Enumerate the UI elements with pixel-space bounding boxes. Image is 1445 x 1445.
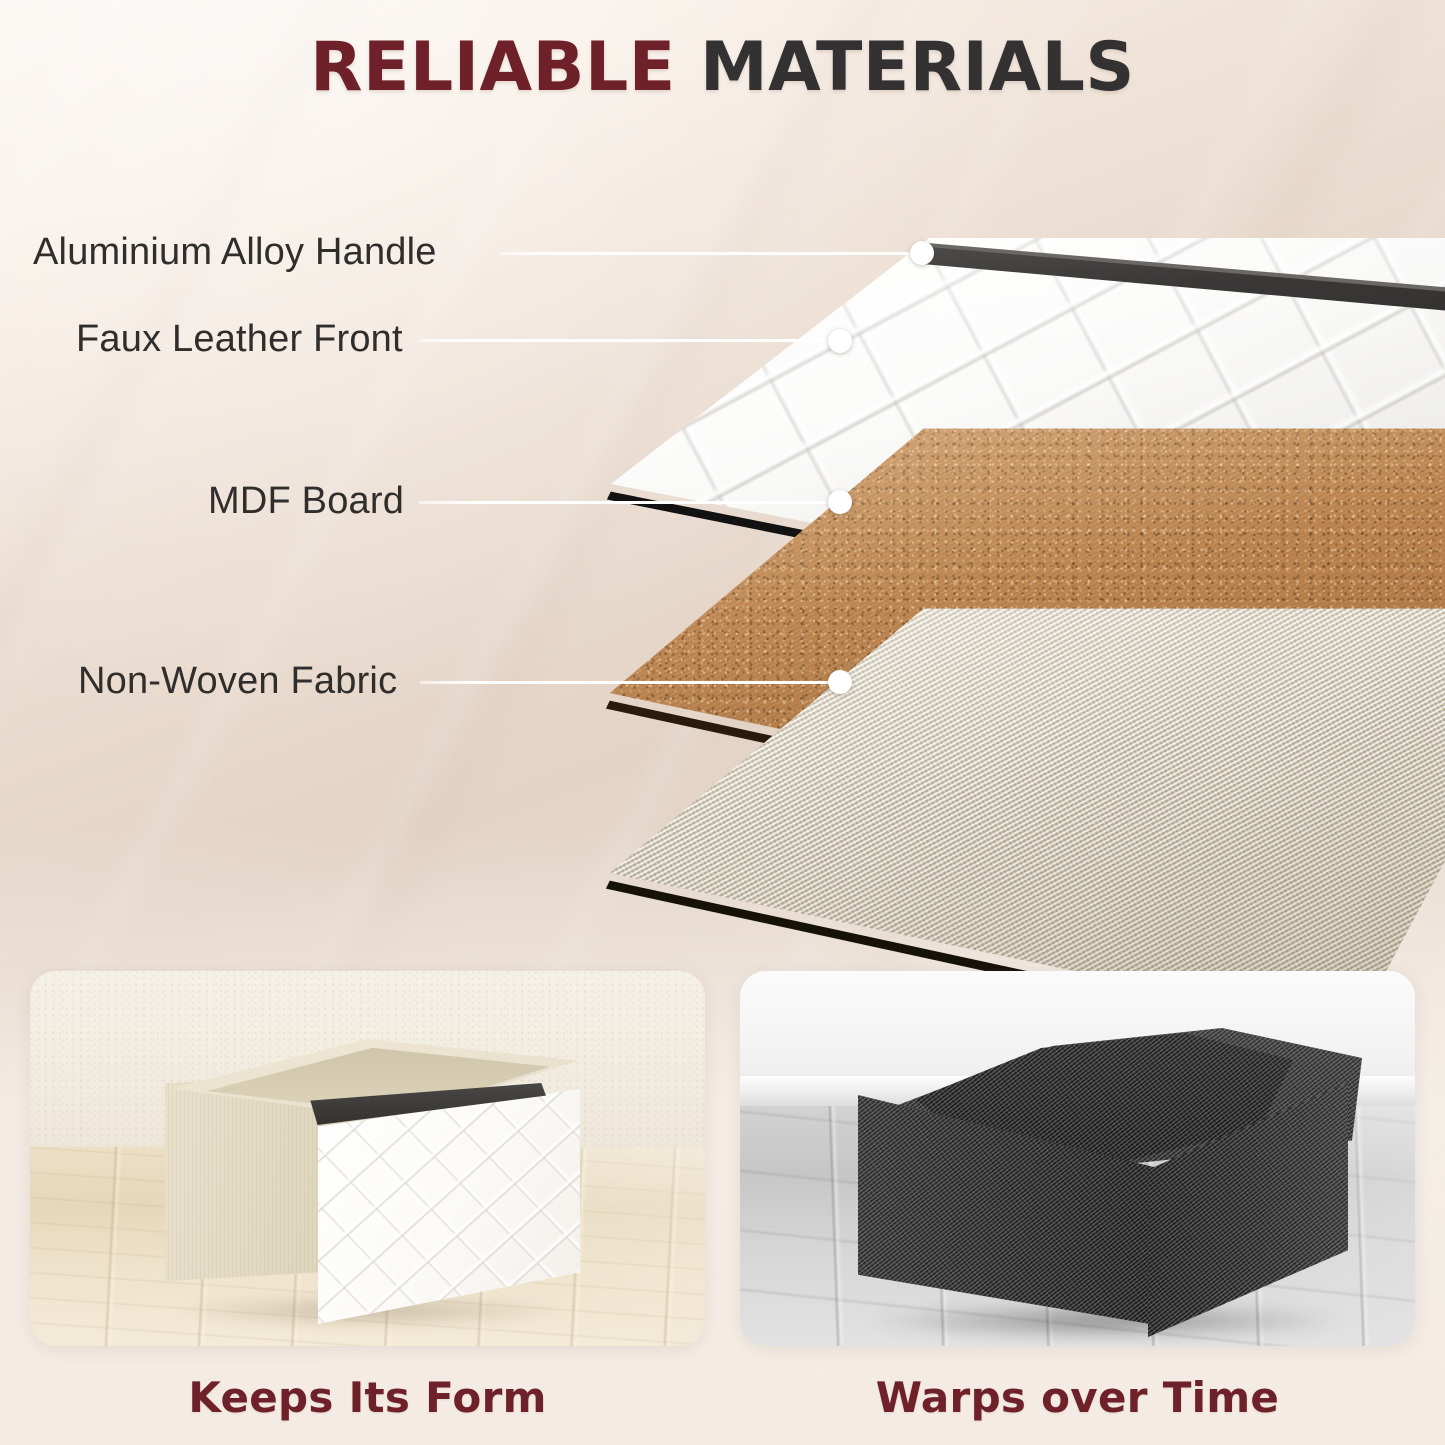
callout-leader-faux-leather-front — [420, 339, 838, 342]
callout-dot-faux-leather-front — [828, 329, 852, 353]
title-word-materials: MATERIALS — [700, 28, 1135, 107]
comparison-panel-keeps-form — [30, 971, 705, 1346]
title-word-reliable: RELIABLE — [310, 28, 676, 107]
callout-dot-mdf-board — [828, 490, 852, 514]
page-title: RELIABLE MATERIALS — [0, 28, 1445, 107]
exploded-layers-diagram: Aluminium Alloy Handle Faux Leather Fron… — [0, 150, 1445, 910]
callout-dot-aluminium-alloy-handle — [910, 241, 934, 265]
comparison-panel-warps-over-time — [740, 971, 1415, 1346]
callout-leader-aluminium-alloy-handle — [500, 252, 922, 255]
caption-keeps-its-form: Keeps Its Form — [30, 1373, 705, 1422]
infographic-root: RELIABLE MATERIALS Aluminium Alloy Handl… — [0, 0, 1445, 1445]
callout-label-non-woven-fabric: Non-Woven Fabric — [78, 660, 397, 703]
callout-leader-non-woven-fabric — [420, 681, 838, 684]
callout-dot-non-woven-fabric — [828, 670, 852, 694]
caption-warps-over-time: Warps over Time — [740, 1373, 1415, 1422]
callout-label-mdf-board: MDF Board — [208, 480, 404, 523]
comparison-section: Keeps Its Form Warps over Time — [0, 965, 1445, 1445]
callout-label-aluminium-alloy-handle: Aluminium Alloy Handle — [33, 231, 437, 274]
callout-leader-mdf-board — [418, 501, 838, 504]
callout-label-faux-leather-front: Faux Leather Front — [76, 318, 403, 361]
